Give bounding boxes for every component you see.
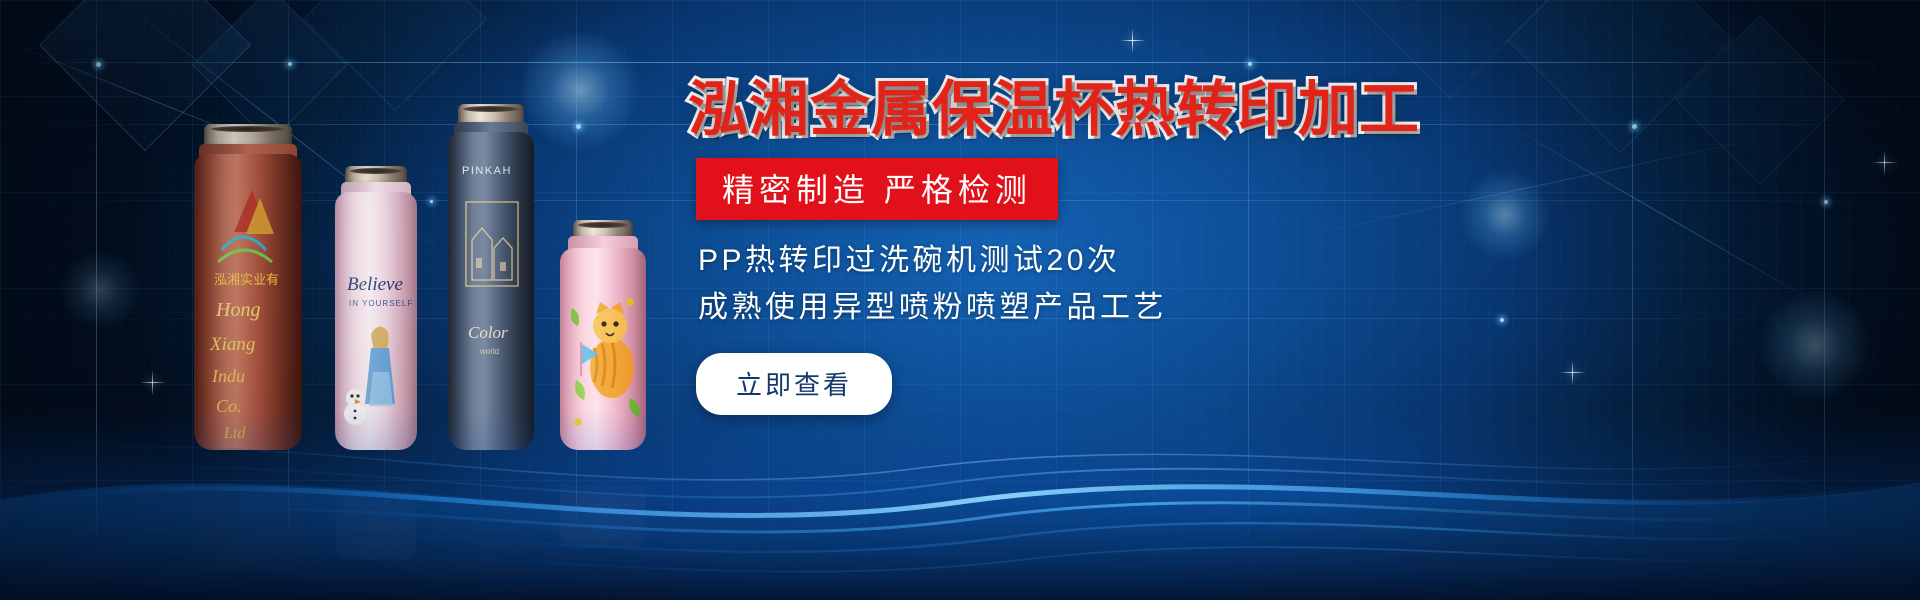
grid-node: [1248, 62, 1252, 66]
grid-node: [1824, 200, 1828, 204]
glow-dot: [1460, 170, 1550, 260]
grid-node: [96, 62, 101, 67]
sparkle-icon: [1872, 150, 1898, 176]
tagline-text: 精密制造 严格检测: [722, 172, 1032, 208]
bullet-line-2: 成熟使用异型喷粉喷塑产品工艺: [698, 285, 1428, 331]
wave-svg: [0, 350, 1920, 600]
wave-ribbons: [0, 350, 1920, 600]
tagline-bar: 精密制造 严格检测: [696, 158, 1058, 220]
glow-dot: [60, 250, 140, 330]
grid-node: [1500, 318, 1504, 322]
bullet-line-1: PP热转印过洗碗机测试20次: [698, 238, 1428, 284]
headline: 泓湘金属保温杯热转印加工: [688, 78, 1428, 142]
grid-node: [1632, 124, 1637, 129]
sparkle-icon: [1120, 28, 1146, 54]
wave-line: [0, 446, 1920, 480]
hero-banner: 泓湘实业有 Hong Xiang Indu Co. Ltd: [0, 0, 1920, 600]
